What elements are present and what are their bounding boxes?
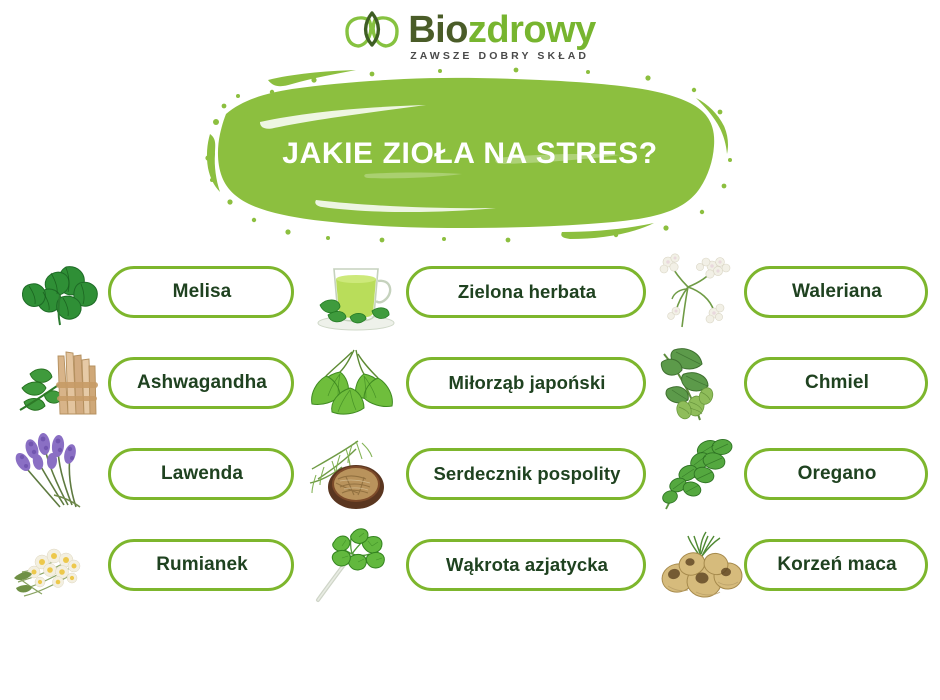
gotu-kola-icon [306, 526, 410, 606]
leaf-logo-icon [344, 11, 400, 63]
herb-item-waleriana[interactable]: Waleriana [656, 262, 928, 324]
title-banner: JAKIE ZIOŁA NA STRES? [196, 62, 744, 246]
herb-column-2: Zielona herbata [306, 262, 646, 652]
herb-item-oregano[interactable]: Oregano [656, 444, 928, 506]
herb-column-1: Melisa [14, 262, 294, 652]
chamomile-icon [14, 526, 118, 606]
logo-tagline: ZAWSZE DOBRY SKŁAD [410, 51, 589, 62]
herb-item-chmiel[interactable]: Chmiel [656, 353, 928, 415]
brand-logo: Biozdrowy ZAWSZE DOBRY SKŁAD [0, 6, 940, 68]
logo-inner: Biozdrowy ZAWSZE DOBRY SKŁAD [344, 11, 596, 63]
logo-word-bio: Bio [408, 9, 468, 51]
herb-pill[interactable]: Chmiel [744, 357, 928, 409]
herb-grid: Melisa [0, 262, 940, 652]
herb-item-zielona-herbata[interactable]: Zielona herbata [306, 262, 646, 324]
herb-pill[interactable]: Miłorząb japoński [406, 357, 646, 409]
herb-pill[interactable]: Rumianek [108, 539, 294, 591]
herb-pill[interactable]: Wąkrota azjatycka [406, 539, 646, 591]
herb-label: Oregano [747, 463, 925, 485]
herb-item-ashwagandha[interactable]: Ashwagandha [14, 353, 294, 415]
green-tea-cup-icon [306, 253, 410, 333]
herb-pill[interactable]: Zielona herbata [406, 266, 646, 318]
herb-pill[interactable]: Melisa [108, 266, 294, 318]
logo-word: Biozdrowy [408, 13, 596, 48]
herb-column-3: Waleriana [656, 262, 928, 652]
herb-label: Serdecznik pospolity [409, 463, 643, 485]
herb-label: Miłorząb japoński [409, 372, 643, 394]
lemon-balm-icon [14, 253, 118, 333]
herb-label: Korzeń maca [747, 554, 925, 576]
logo-word-zdrowy: zdrowy [468, 9, 596, 51]
herb-label: Zielona herbata [409, 281, 643, 303]
herb-label: Melisa [111, 281, 291, 303]
herb-item-serdecznik-pospolity[interactable]: Serdecznik pospolity [306, 444, 646, 506]
lavender-icon [14, 435, 118, 515]
motherwort-bowl-icon [306, 435, 410, 515]
herb-label: Waleriana [747, 281, 925, 303]
herb-label: Chmiel [747, 372, 925, 394]
ashwagandha-root-icon [14, 344, 118, 424]
herb-label: Rumianek [111, 554, 291, 576]
herb-label: Lawenda [111, 463, 291, 485]
herb-pill[interactable]: Serdecznik pospolity [406, 448, 646, 500]
herb-item-wakrota-azjatycka[interactable]: Wąkrota azjatycka [306, 535, 646, 597]
herb-item-korzen-maca[interactable]: Korzeń maca [656, 535, 928, 597]
ginkgo-leaf-icon [306, 344, 410, 424]
page-title: JAKIE ZIOŁA NA STRES? [196, 62, 744, 246]
herb-pill[interactable]: Waleriana [744, 266, 928, 318]
herb-pill[interactable]: Oregano [744, 448, 928, 500]
herb-pill[interactable]: Ashwagandha [108, 357, 294, 409]
herb-item-melisa[interactable]: Melisa [14, 262, 294, 324]
herb-label: Wąkrota azjatycka [409, 554, 643, 576]
herb-label: Ashwagandha [111, 372, 291, 394]
herb-item-rumianek[interactable]: Rumianek [14, 535, 294, 597]
logo-wordmark: Biozdrowy ZAWSZE DOBRY SKŁAD [408, 13, 596, 61]
herb-pill[interactable]: Korzeń maca [744, 539, 928, 591]
herb-item-milorzab-japonski[interactable]: Miłorząb japoński [306, 353, 646, 415]
herb-item-lawenda[interactable]: Lawenda [14, 444, 294, 506]
herb-pill[interactable]: Lawenda [108, 448, 294, 500]
